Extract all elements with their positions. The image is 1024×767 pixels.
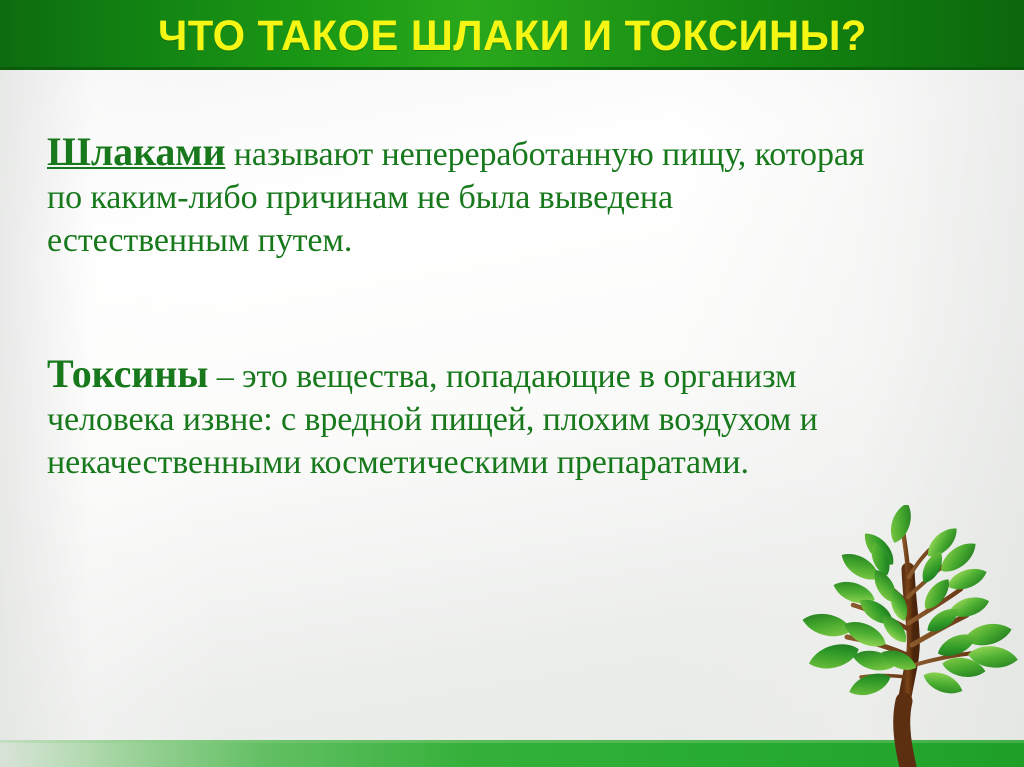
term-shlakami: Шлаками xyxy=(47,129,225,174)
tree-illustration xyxy=(795,505,1024,767)
slide-title-bar: ЧТО ТАКОЕ ШЛАКИ И ТОКСИНЫ? xyxy=(0,0,1024,70)
slide-canvas: ЧТО ТАКОЕ ШЛАКИ И ТОКСИНЫ? Шлаками назыв… xyxy=(0,0,1024,767)
paragraph-shlaki: Шлаками называют непереработанную пищу, … xyxy=(47,130,877,262)
slide-body: Шлаками называют непереработанную пищу, … xyxy=(47,130,877,484)
paragraph-toksiny: Токсины – это вещества, попадающие в орг… xyxy=(47,352,877,484)
page-title: ЧТО ТАКОЕ ШЛАКИ И ТОКСИНЫ? xyxy=(158,15,867,58)
term-toksiny: Токсины xyxy=(47,351,208,396)
